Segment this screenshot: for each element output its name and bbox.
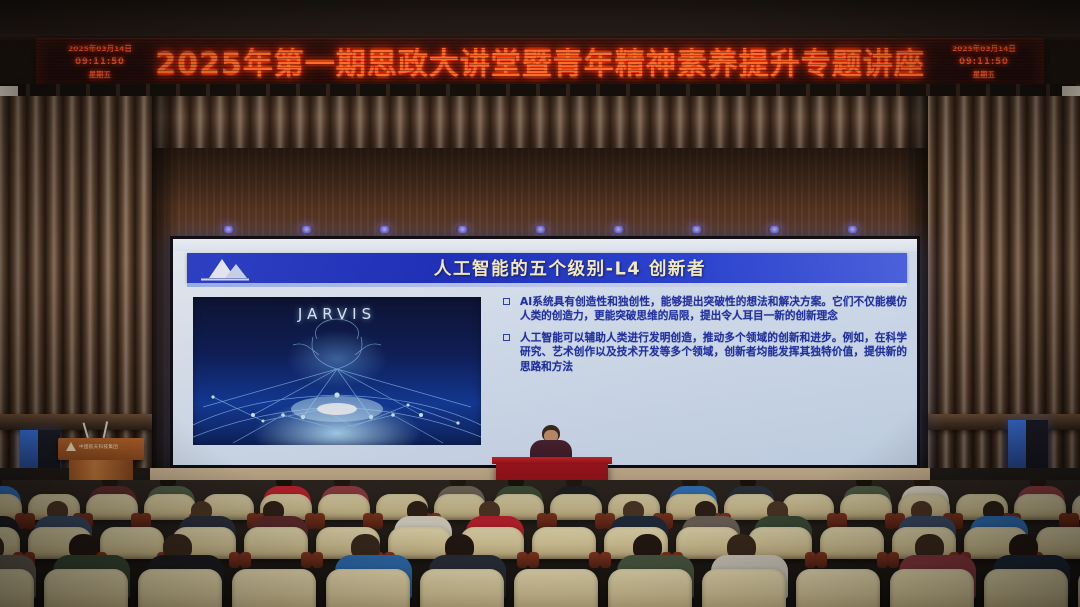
auditorium-seat [232, 569, 316, 607]
stage-strip-light [534, 226, 547, 233]
seat-armrest [229, 552, 240, 568]
auditorium-seat [1072, 494, 1080, 520]
audience-area [0, 480, 1080, 607]
podium-logo: 中国航天科技集团 [66, 442, 118, 451]
bullet-square-icon [503, 334, 510, 341]
seat-armrest [24, 513, 35, 529]
auditorium-seat [840, 494, 892, 520]
led-banner-title: 2025年第一期思政大讲堂暨青年精神素养提升专题讲座 [36, 46, 1044, 84]
seat-armrest [877, 552, 888, 568]
seat-armrest [312, 552, 323, 568]
bullet-text: 人工智能可以辅助人类进行发明创造，推动多个领域的创新和进步。例如，在科学研究、艺… [520, 332, 907, 373]
auditorium-seat [0, 569, 34, 607]
auditorium-seat [532, 527, 596, 559]
stage-strip-light [222, 226, 235, 233]
auditorium-seat [100, 527, 164, 559]
auditorium-seat [514, 569, 598, 607]
stage-strip-light [846, 226, 859, 233]
podium-triangle-icon [66, 442, 76, 451]
auditorium-seat [244, 527, 308, 559]
auditorium-seat [86, 494, 138, 520]
seat-armrest [517, 552, 528, 568]
curtain-tieback-left [0, 414, 152, 430]
stage-strip-light [690, 226, 703, 233]
bullet-text: AI系统具有创造性和独创性，能够提出突破性的想法和解决方案。它们不仅能模仿人类的… [520, 296, 907, 322]
led-clock-right: 2025年03月14日 09:11:50 星期五 [936, 42, 1032, 81]
stage-strip-light [612, 226, 625, 233]
auditorium-seat [1014, 494, 1066, 520]
auditorium-seat [138, 569, 222, 607]
seat-armrest [888, 552, 899, 568]
seat-armrest [372, 513, 383, 529]
bullet-square-icon [503, 298, 510, 305]
seat-armrest [301, 552, 312, 568]
auditorium-seat [326, 569, 410, 607]
seat-armrest [528, 552, 539, 568]
stage-curtain-right [928, 96, 1080, 516]
wall-shadow [150, 148, 930, 208]
slide-image-jarvis: JARVIS [193, 297, 481, 445]
auditorium-scene: 2025年03月14日 09:11:50 星期五 2025年第一期思政大讲堂暨青… [0, 0, 1080, 607]
auditorium-seat [796, 569, 880, 607]
auditorium-seat [608, 569, 692, 607]
podium-top: 中国航天科技集团 [58, 438, 144, 460]
auditorium-seat [1036, 527, 1080, 559]
auditorium-seat [388, 527, 452, 559]
led-banner: 2025年03月14日 09:11:50 星期五 2025年第一期思政大讲堂暨青… [36, 38, 1044, 90]
auditorium-seat [44, 569, 128, 607]
stage-strip-light [456, 226, 469, 233]
auditorium-seat [550, 494, 602, 520]
stage-strip-light [768, 226, 781, 233]
seat-armrest [240, 552, 251, 568]
auditorium-seat [318, 494, 370, 520]
auditorium-seat [420, 569, 504, 607]
slide-title-bar: 人工智能的五个级别-L4 创新者 [187, 253, 907, 283]
jarvis-label: JARVIS [193, 305, 481, 323]
slide-bullet-list: AI系统具有创造性和独创性，能够提出突破性的想法和解决方案。它们不仅能模仿人类的… [503, 295, 907, 381]
stage-strip-light [378, 226, 391, 233]
seat-armrest [600, 552, 611, 568]
slide-title: 人工智能的五个级别-L4 创新者 [187, 256, 907, 281]
auditorium-seat [984, 569, 1068, 607]
curtain-tieback-right [928, 414, 1080, 430]
auditorium-seat [890, 569, 974, 607]
stage-strip-light [300, 226, 313, 233]
podium-logo-text: 中国航天科技集团 [79, 444, 118, 450]
led-clock-right-weekday: 星期五 [936, 68, 1032, 81]
seat-armrest [816, 552, 827, 568]
seat-armrest [314, 513, 325, 529]
auditorium-seat [820, 527, 884, 559]
seat-armrest [805, 552, 816, 568]
slide-bullet-item: 人工智能可以辅助人类进行发明创造，推动多个领域的创新和进步。例如，在科学研究、艺… [503, 331, 907, 374]
auditorium-seat [748, 527, 812, 559]
valance-scallop [0, 84, 1080, 96]
slide-top-strip [173, 239, 917, 251]
seat-armrest [589, 552, 600, 568]
auditorium-seat [702, 569, 786, 607]
led-clock-right-date: 2025年03月14日 [936, 42, 1032, 55]
slide-bullet-item: AI系统具有创造性和独创性，能够提出突破性的想法和解决方案。它们不仅能模仿人类的… [503, 295, 907, 324]
led-clock-right-time: 09:11:50 [936, 55, 1032, 68]
